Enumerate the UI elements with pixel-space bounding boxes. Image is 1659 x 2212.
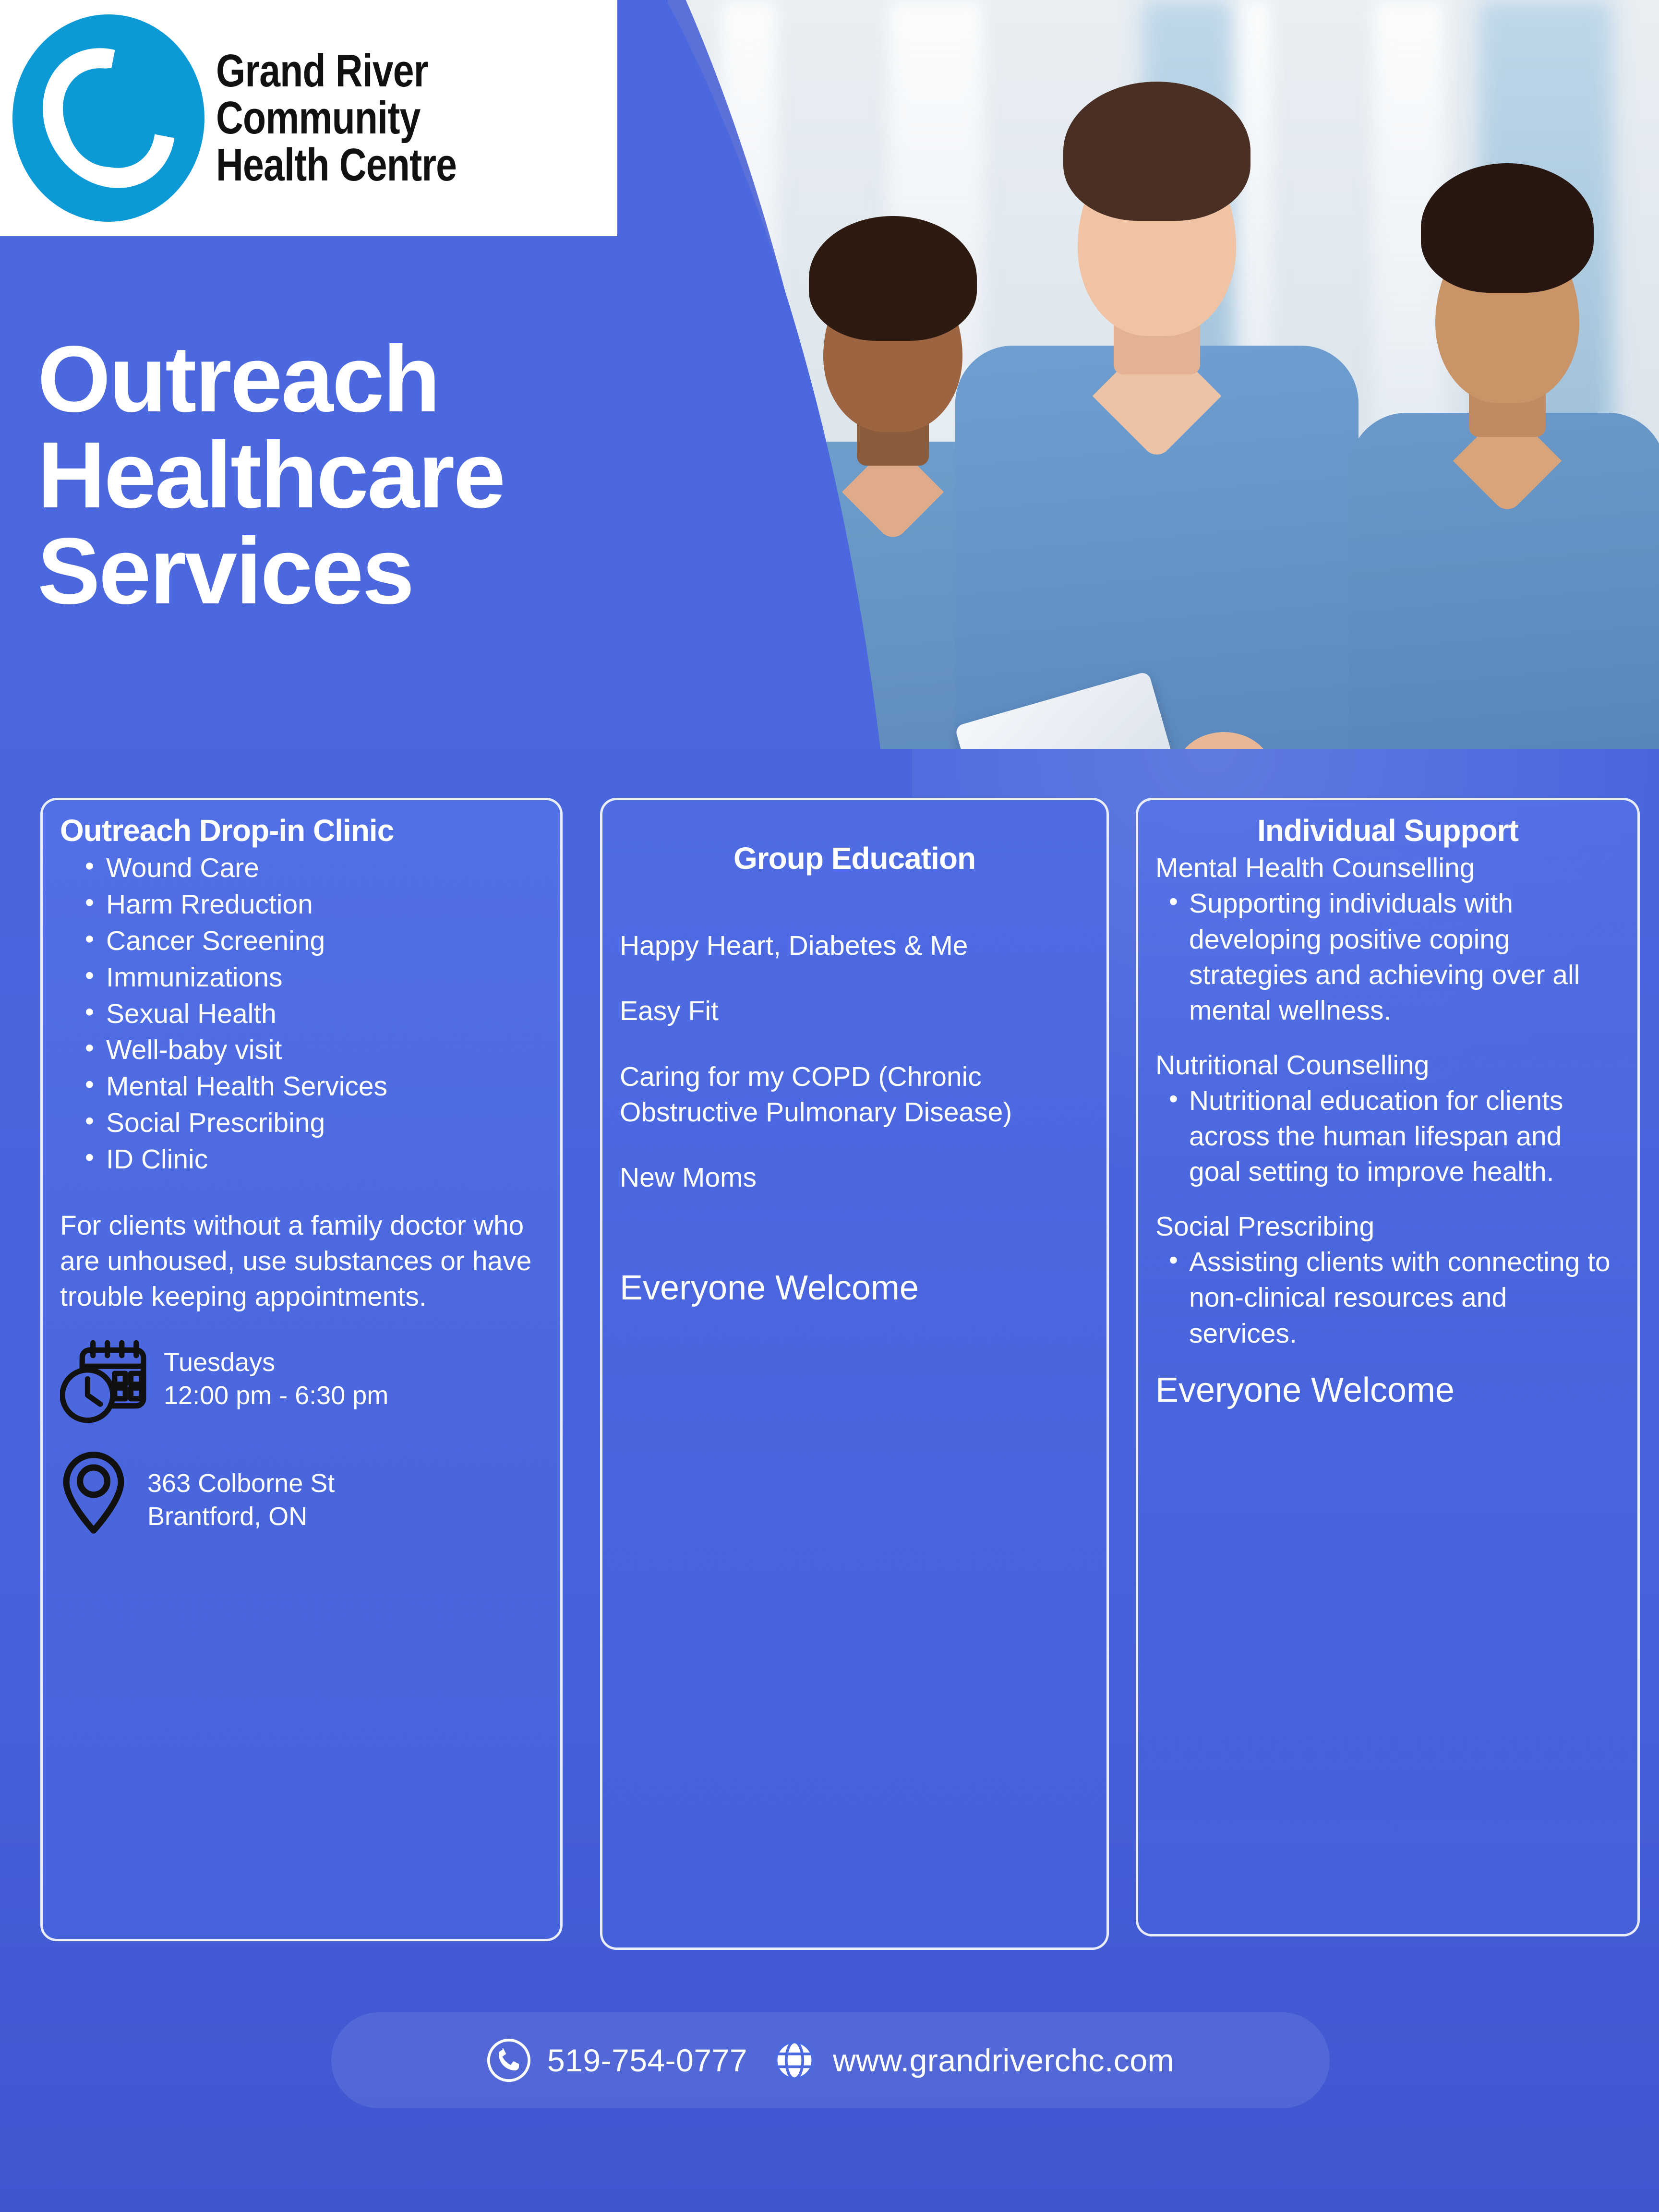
card-1-title: Outreach Drop-in Clinic	[60, 814, 543, 847]
phone-number: 519-754-0777	[547, 2042, 747, 2079]
program-item: Easy Fit	[620, 993, 1089, 1029]
list-item: Supporting individuals with developing p…	[1189, 886, 1620, 1028]
list-item: Immunizations	[106, 960, 543, 996]
poster-root: Grand River Community Health Centre Outr…	[0, 0, 1659, 2212]
location-pin-icon	[60, 1451, 127, 1535]
phone-icon	[487, 2038, 531, 2082]
list-item: ID Clinic	[106, 1142, 543, 1178]
list-item: Sexual Health	[106, 996, 543, 1033]
logo-wordmark: Grand River Community Health Centre	[216, 48, 457, 189]
schedule-text: Tuesdays 12:00 pm - 6:30 pm	[164, 1339, 388, 1412]
card-1-description: For clients without a family doctor who …	[60, 1208, 543, 1314]
list-item: Nutritional education for clients across…	[1189, 1083, 1620, 1190]
program-item: New Moms	[620, 1160, 1089, 1195]
section-points: Nutritional education for clients across…	[1155, 1083, 1620, 1190]
section-heading: Mental Health Counselling	[1155, 850, 1620, 886]
section-points: Supporting individuals with developing p…	[1155, 886, 1620, 1028]
section-points: Assisting clients with connecting to non…	[1155, 1244, 1620, 1351]
section-heading: Nutritional Counselling	[1155, 1047, 1620, 1083]
address-text: 363 Colborne St Brantford, ON	[140, 1451, 335, 1533]
grand-river-swirl-icon	[5, 8, 216, 228]
address-row: 363 Colborne St Brantford, ON	[60, 1451, 543, 1535]
list-item: Assisting clients with connecting to non…	[1189, 1244, 1620, 1351]
calendar-clock-icon	[60, 1339, 151, 1426]
website-url: www.grandriverchc.com	[833, 2042, 1174, 2079]
list-item: Wound Care	[106, 850, 543, 887]
logo: Grand River Community Health Centre	[0, 0, 617, 236]
title-line-3: Services	[37, 523, 504, 619]
logo-line-1: Grand River	[216, 48, 457, 95]
website-contact[interactable]: www.grandriverchc.com	[772, 2038, 1174, 2082]
card-group-education: Group Education Happy Heart, Diabetes & …	[600, 798, 1109, 1950]
list-item: Harm Rreduction	[106, 887, 543, 923]
program-item: Caring for my COPD (Chronic Obstructive …	[620, 1059, 1089, 1130]
card-3-welcome: Everyone Welcome	[1155, 1371, 1620, 1409]
title-line-1: Outreach	[37, 331, 504, 427]
contact-bar: 519-754-0777 www.grandriverchc.com	[331, 2012, 1330, 2108]
page-title: Outreach Healthcare Services	[37, 331, 504, 619]
address-line-2: Brantford, ON	[147, 1502, 307, 1531]
schedule-row: Tuesdays 12:00 pm - 6:30 pm	[60, 1339, 543, 1426]
card-2-title: Group Education	[620, 842, 1089, 875]
globe-icon	[772, 2038, 817, 2082]
card-3-title: Individual Support	[1155, 814, 1620, 847]
list-item: Social Prescribing	[106, 1105, 543, 1142]
card-2-welcome: Everyone Welcome	[620, 1267, 1089, 1309]
schedule-time: 12:00 pm - 6:30 pm	[164, 1381, 388, 1410]
list-item: Mental Health Services	[106, 1069, 543, 1105]
phone-contact[interactable]: 519-754-0777	[487, 2038, 747, 2082]
title-line-2: Healthcare	[37, 427, 504, 523]
card-1-service-list: Wound Care Harm Rreduction Cancer Screen…	[60, 850, 543, 1178]
card-outreach-drop-in-clinic: Outreach Drop-in Clinic Wound Care Harm …	[40, 798, 563, 1941]
service-cards: Outreach Drop-in Clinic Wound Care Harm …	[0, 798, 1659, 1969]
schedule-day: Tuesdays	[164, 1348, 275, 1377]
program-item: Happy Heart, Diabetes & Me	[620, 928, 1089, 963]
section-heading: Social Prescribing	[1155, 1209, 1620, 1244]
list-item: Well-baby visit	[106, 1032, 543, 1069]
address-line-1: 363 Colborne St	[147, 1469, 335, 1498]
logo-line-2: Community	[216, 95, 457, 142]
logo-line-3: Health Centre	[216, 142, 457, 189]
list-item: Cancer Screening	[106, 923, 543, 960]
card-individual-support: Individual Support Mental Health Counsel…	[1136, 798, 1640, 1936]
